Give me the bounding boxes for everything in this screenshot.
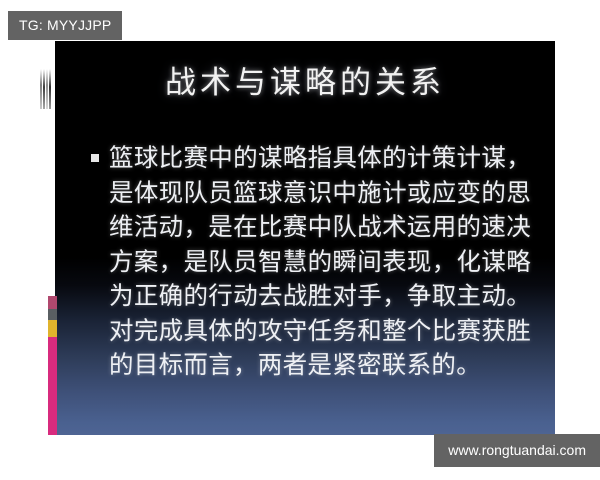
color-bar-gray	[48, 309, 57, 320]
site-url-watermark: www.rongtuandai.com	[434, 434, 600, 467]
tick-bar	[49, 69, 51, 109]
slide-title: 战术与谋略的关系	[55, 66, 555, 100]
slide-body-paragraph: 篮球比赛中的谋略指具体的计策计谋，是体现队员篮球意识中施计或应变的思维活动，是在…	[109, 141, 531, 383]
decorative-tick-marks	[40, 69, 56, 109]
uploader-tag-watermark: TG: MYYJJPP	[8, 11, 122, 40]
tick-bar	[46, 69, 48, 109]
tick-bar	[40, 69, 42, 109]
color-bar-yellow	[48, 320, 57, 337]
tick-bar	[43, 69, 45, 109]
square-bullet-icon	[91, 154, 99, 162]
color-bar-magenta	[48, 337, 57, 435]
color-bar-pink	[48, 296, 57, 309]
slide-body: 篮球比赛中的谋略指具体的计策计谋，是体现队员篮球意识中施计或应变的思维活动，是在…	[91, 141, 531, 383]
presentation-slide: 战术与谋略的关系 篮球比赛中的谋略指具体的计策计谋，是体现队员篮球意识中施计或应…	[55, 41, 555, 435]
decorative-color-bars	[48, 296, 57, 435]
